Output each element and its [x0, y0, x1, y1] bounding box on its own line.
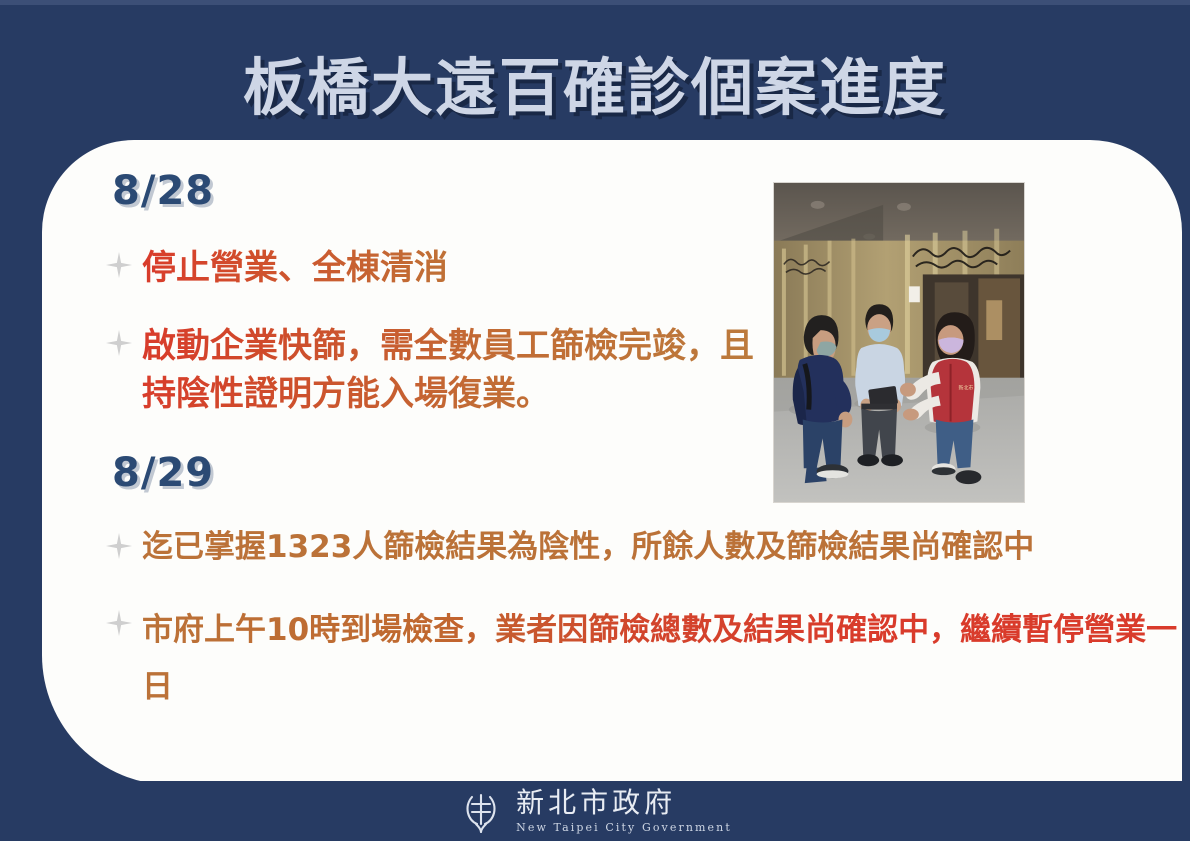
footer-name-en: New Taipei City Government [516, 822, 732, 833]
sparkle-icon [106, 330, 132, 356]
bullet-row: 市府上午10時到場檢查，業者因篩檢總數及結果尚確認中，繼續暫停營業一日 [106, 602, 1181, 717]
footer-name-zh: 新北市政府 [516, 789, 676, 817]
date-heading-8-28: 8/28 [112, 168, 214, 214]
top-accent-strip [0, 0, 1190, 5]
bullet-text: 啟動企業快篩，需全數員工篩檢完竣，且持陰性證明方能入場復業。 [142, 322, 756, 419]
bullet-text: 市府上午10時到場檢查，業者因篩檢總數及結果尚確認中，繼續暫停營業一日 [142, 602, 1181, 717]
page-title: 板橋大遠百確診個案進度 [243, 37, 947, 127]
bullet-row: 迄已掌握1323人篩檢結果為陰性，所餘人數及篩檢結果尚確認中 [106, 525, 1181, 569]
bullet-text: 迄已掌握1323人篩檢結果為陰性，所餘人數及篩檢結果尚確認中 [142, 525, 1034, 569]
sparkle-icon [106, 610, 132, 636]
bullet-row: 停止營業、全棟清消 [106, 244, 756, 292]
inspection-photo: 新北市 [773, 182, 1025, 503]
bullet-text: 停止營業、全棟清消 [142, 244, 448, 292]
svg-text:新北市: 新北市 [959, 385, 974, 392]
footer-bar: 新北市政府 New Taipei City Government [0, 781, 1190, 841]
title-bar: 板橋大遠百確診個案進度 [0, 34, 1190, 130]
footer-names: 新北市政府 New Taipei City Government [516, 789, 732, 833]
date-heading-8-29: 8/29 [112, 450, 214, 496]
sparkle-icon [106, 533, 132, 559]
new-taipei-city-government-logo [458, 788, 504, 834]
bullet-row: 啟動企業快篩，需全數員工篩檢完竣，且持陰性證明方能入場復業。 [106, 322, 756, 419]
sparkle-icon [106, 252, 132, 278]
slide-root: 板橋大遠百確診個案進度 8/28 停止營業、全棟清消 啟動企業快篩，需全數員工篩… [0, 0, 1190, 841]
